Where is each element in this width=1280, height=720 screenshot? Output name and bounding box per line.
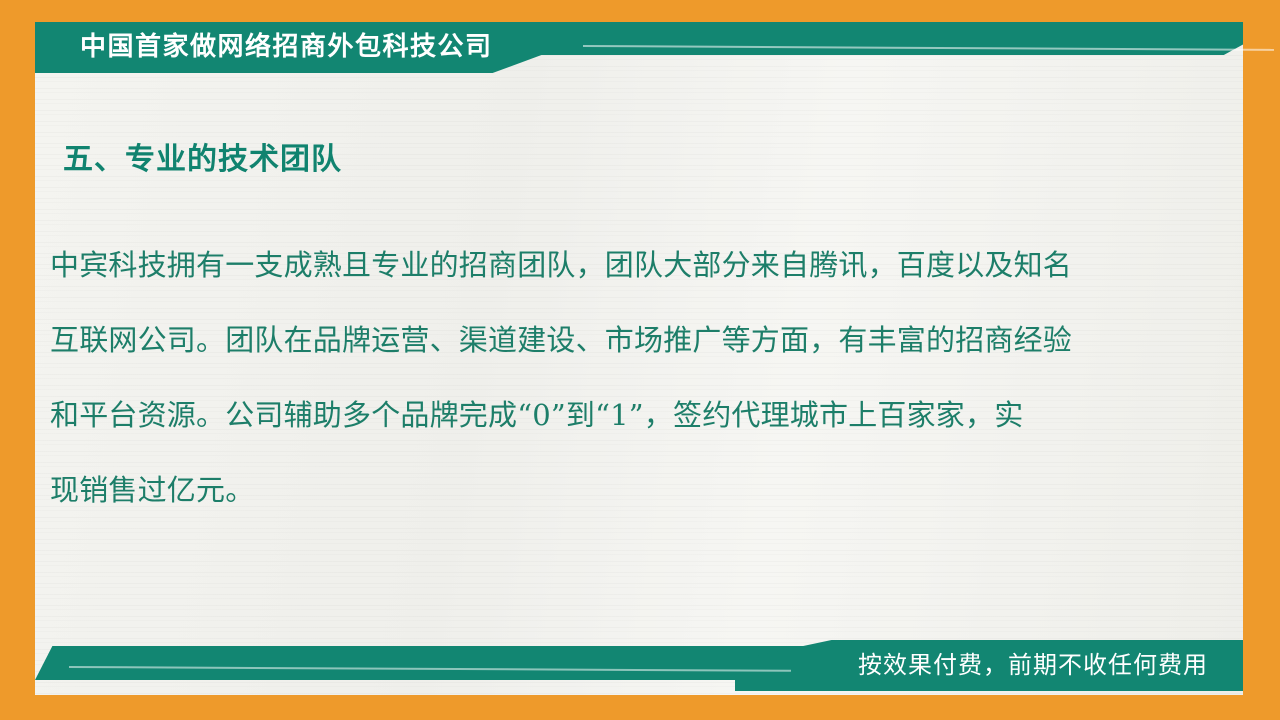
body-line: 现销售过亿元。 — [50, 453, 1190, 528]
footer-band: 按效果付费，前期不收任何费用 — [35, 640, 1243, 696]
header-title: 中国首家做网络招商外包科技公司 — [80, 25, 493, 69]
body-line: 互联网公司。团队在品牌运营、渠道建设、市场推广等方面，有丰富的招商经验 — [50, 303, 1190, 378]
orange-frame-top — [0, 0, 1280, 22]
footer-band-strip — [35, 646, 825, 680]
slide-root: 中国首家做网络招商外包科技公司 五、专业的技术团队 中宾科技拥有一支成熟且专业的… — [0, 0, 1280, 720]
orange-frame-left — [0, 0, 35, 720]
body-line: 中宾科技拥有一支成熟且专业的招商团队，团队大部分来自腾讯，百度以及知名 — [50, 228, 1190, 303]
orange-frame-bottom — [0, 695, 1280, 720]
footer-tagline: 按效果付费，前期不收任何费用 — [858, 644, 1208, 686]
orange-frame-right — [1243, 0, 1280, 720]
section-heading: 五、专业的技术团队 — [63, 134, 342, 178]
body-paragraph: 中宾科技拥有一支成熟且专业的招商团队，团队大部分来自腾讯，百度以及知名 互联网公… — [50, 228, 1190, 528]
header-band: 中国首家做网络招商外包科技公司 — [35, 22, 1243, 78]
body-line: 和平台资源。公司辅助多个品牌完成“0”到“1”，签约代理城市上百家家，实 — [50, 378, 1190, 453]
